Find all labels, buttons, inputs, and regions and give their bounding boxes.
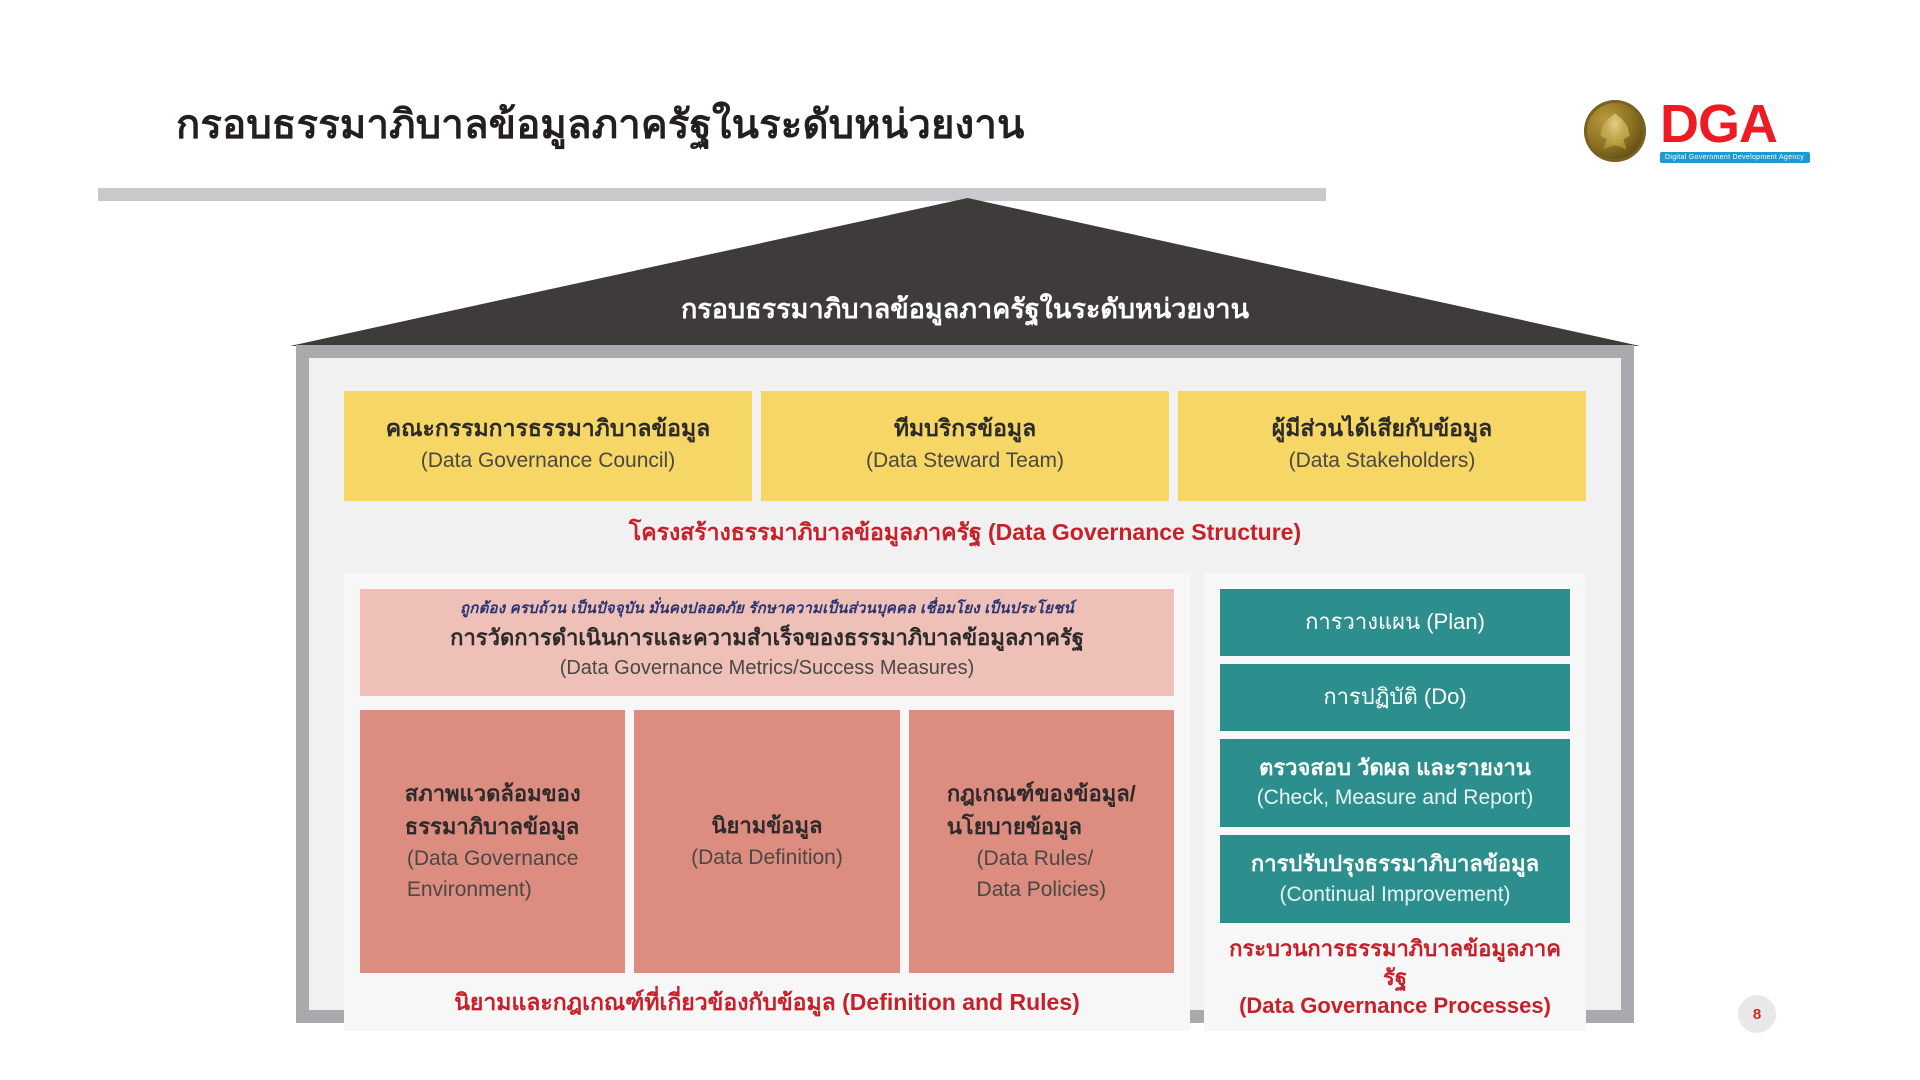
process-box-plan-th: การวางแผน (Plan) xyxy=(1305,607,1485,638)
house-inner-panel: คณะกรรมการธรรมาภิบาลข้อมูล (Data Governa… xyxy=(322,371,1608,997)
process-box-do[interactable]: การปฏิบัติ (Do) xyxy=(1220,664,1570,731)
governance-processes-caption-th: กระบวนการธรรมาภิบาลข้อมูลภาครัฐ xyxy=(1220,935,1570,992)
house-roof: กรอบธรรมาภิบาลข้อมูลภาครัฐในระดับหน่วยงา… xyxy=(290,198,1640,346)
process-box-improvement-en: (Continual Improvement) xyxy=(1279,880,1510,909)
definition-and-rules-caption: นิยามและกฎเกณฑ์ที่เกี่ยวข้องกับข้อมูล (D… xyxy=(360,985,1174,1021)
definition-box-environment-th: สภาพแวดล้อมของ ธรรมาภิบาลข้อมูล xyxy=(405,777,581,843)
governance-metrics-box[interactable]: ถูกต้อง ครบถ้วน เป็นปัจจุบัน มั่นคงปลอดภ… xyxy=(360,589,1174,696)
structure-box-stakeholders-th: ผู้มีส่วนได้เสียกับข้อมูล xyxy=(1272,413,1493,444)
structure-box-council-th: คณะกรรมการธรรมาภิบาลข้อมูล xyxy=(386,413,710,444)
definition-box-data-definition[interactable]: นิยามข้อมูล (Data Definition) xyxy=(634,710,899,973)
dga-logo: DGA Digital Government Development Agenc… xyxy=(1584,100,1810,163)
governance-structure-row: คณะกรรมการธรรมาภิบาลข้อมูล (Data Governa… xyxy=(344,391,1586,501)
definition-and-rules-column: ถูกต้อง ครบถ้วน เป็นปัจจุบัน มั่นคงปลอดภ… xyxy=(344,573,1190,1031)
definition-box-environment[interactable]: สภาพแวดล้อมของ ธรรมาภิบาลข้อมูล (Data Go… xyxy=(360,710,625,973)
house-lower-section: ถูกต้อง ครบถ้วน เป็นปัจจุบัน มั่นคงปลอดภ… xyxy=(322,573,1608,1049)
definition-box-rules-policies-en: (Data Rules/ Data Policies) xyxy=(977,843,1107,906)
governance-processes-caption-en: (Data Governance Processes) xyxy=(1220,992,1570,1021)
dga-letters: DGA xyxy=(1660,100,1777,150)
structure-box-council-en: (Data Governance Council) xyxy=(421,446,675,476)
metrics-keywords: ถูกต้อง ครบถ้วน เป็นปัจจุบัน มั่นคงปลอดภ… xyxy=(372,599,1162,619)
definition-box-environment-en: (Data Governance Environment) xyxy=(407,843,579,906)
metrics-title-en: (Data Governance Metrics/Success Measure… xyxy=(372,655,1162,682)
governance-structure-section: คณะกรรมการธรรมาภิบาลข้อมูล (Data Governa… xyxy=(322,371,1608,559)
garuda-seal-icon xyxy=(1584,100,1646,162)
process-box-do-th: การปฏิบัติ (Do) xyxy=(1323,682,1466,713)
structure-box-steward-team-en: (Data Steward Team) xyxy=(866,446,1064,476)
structure-box-stakeholders-en: (Data Stakeholders) xyxy=(1289,446,1476,476)
governance-processes-column: การวางแผน (Plan) การปฏิบัติ (Do) ตรวจสอบ… xyxy=(1204,573,1586,1031)
process-box-check-en: (Check, Measure and Report) xyxy=(1257,783,1534,812)
structure-box-stakeholders[interactable]: ผู้มีส่วนได้เสียกับข้อมูล (Data Stakehol… xyxy=(1178,391,1586,501)
process-box-improvement[interactable]: การปรับปรุงธรรมาภิบาลข้อมูล (Continual I… xyxy=(1220,835,1570,923)
definition-box-rules-policies[interactable]: กฎเกณฑ์ของข้อมูล/ นโยบายข้อมูล (Data Rul… xyxy=(909,710,1174,973)
process-boxes-list: การวางแผน (Plan) การปฏิบัติ (Do) ตรวจสอบ… xyxy=(1220,589,1570,923)
process-box-improvement-th: การปรับปรุงธรรมาภิบาลข้อมูล xyxy=(1251,849,1539,880)
definition-box-data-definition-th: นิยามข้อมูล xyxy=(711,809,822,842)
definition-boxes-row: สภาพแวดล้อมของ ธรรมาภิบาลข้อมูล (Data Go… xyxy=(360,710,1174,973)
metrics-title-th: การวัดการดำเนินการและความสำเร็จของธรรมาภ… xyxy=(372,624,1162,653)
page-title: กรอบธรรมาภิบาลข้อมูลภาครัฐในระดับหน่วยงา… xyxy=(176,92,1025,156)
governance-structure-caption: โครงสร้างธรรมาภิบาลข้อมูลภาครัฐ (Data Go… xyxy=(344,515,1586,551)
dga-wordmark: DGA Digital Government Development Agenc… xyxy=(1660,100,1810,163)
structure-box-council[interactable]: คณะกรรมการธรรมาภิบาลข้อมูล (Data Governa… xyxy=(344,391,752,501)
structure-box-steward-team[interactable]: ทีมบริกรข้อมูล (Data Steward Team) xyxy=(761,391,1169,501)
process-box-check-th: ตรวจสอบ วัดผล และรายงาน xyxy=(1259,753,1531,784)
process-box-plan[interactable]: การวางแผน (Plan) xyxy=(1220,589,1570,656)
page-number-badge: 8 xyxy=(1738,995,1776,1033)
definition-box-rules-policies-th: กฎเกณฑ์ของข้อมูล/ นโยบายข้อมูล xyxy=(947,777,1136,843)
roof-label: กรอบธรรมาภิบาลข้อมูลภาครัฐในระดับหน่วยงา… xyxy=(290,287,1640,330)
process-box-check[interactable]: ตรวจสอบ วัดผล และรายงาน (Check, Measure … xyxy=(1220,739,1570,827)
structure-box-steward-team-th: ทีมบริกรข้อมูล xyxy=(894,413,1036,444)
dga-subtitle: Digital Government Development Agency xyxy=(1660,152,1810,163)
definition-box-data-definition-en: (Data Definition) xyxy=(691,842,843,874)
governance-processes-caption: กระบวนการธรรมาภิบาลข้อมูลภาครัฐ (Data Go… xyxy=(1220,923,1570,1021)
house-body: คณะกรรมการธรรมาภิบาลข้อมูล (Data Governa… xyxy=(296,345,1634,1023)
